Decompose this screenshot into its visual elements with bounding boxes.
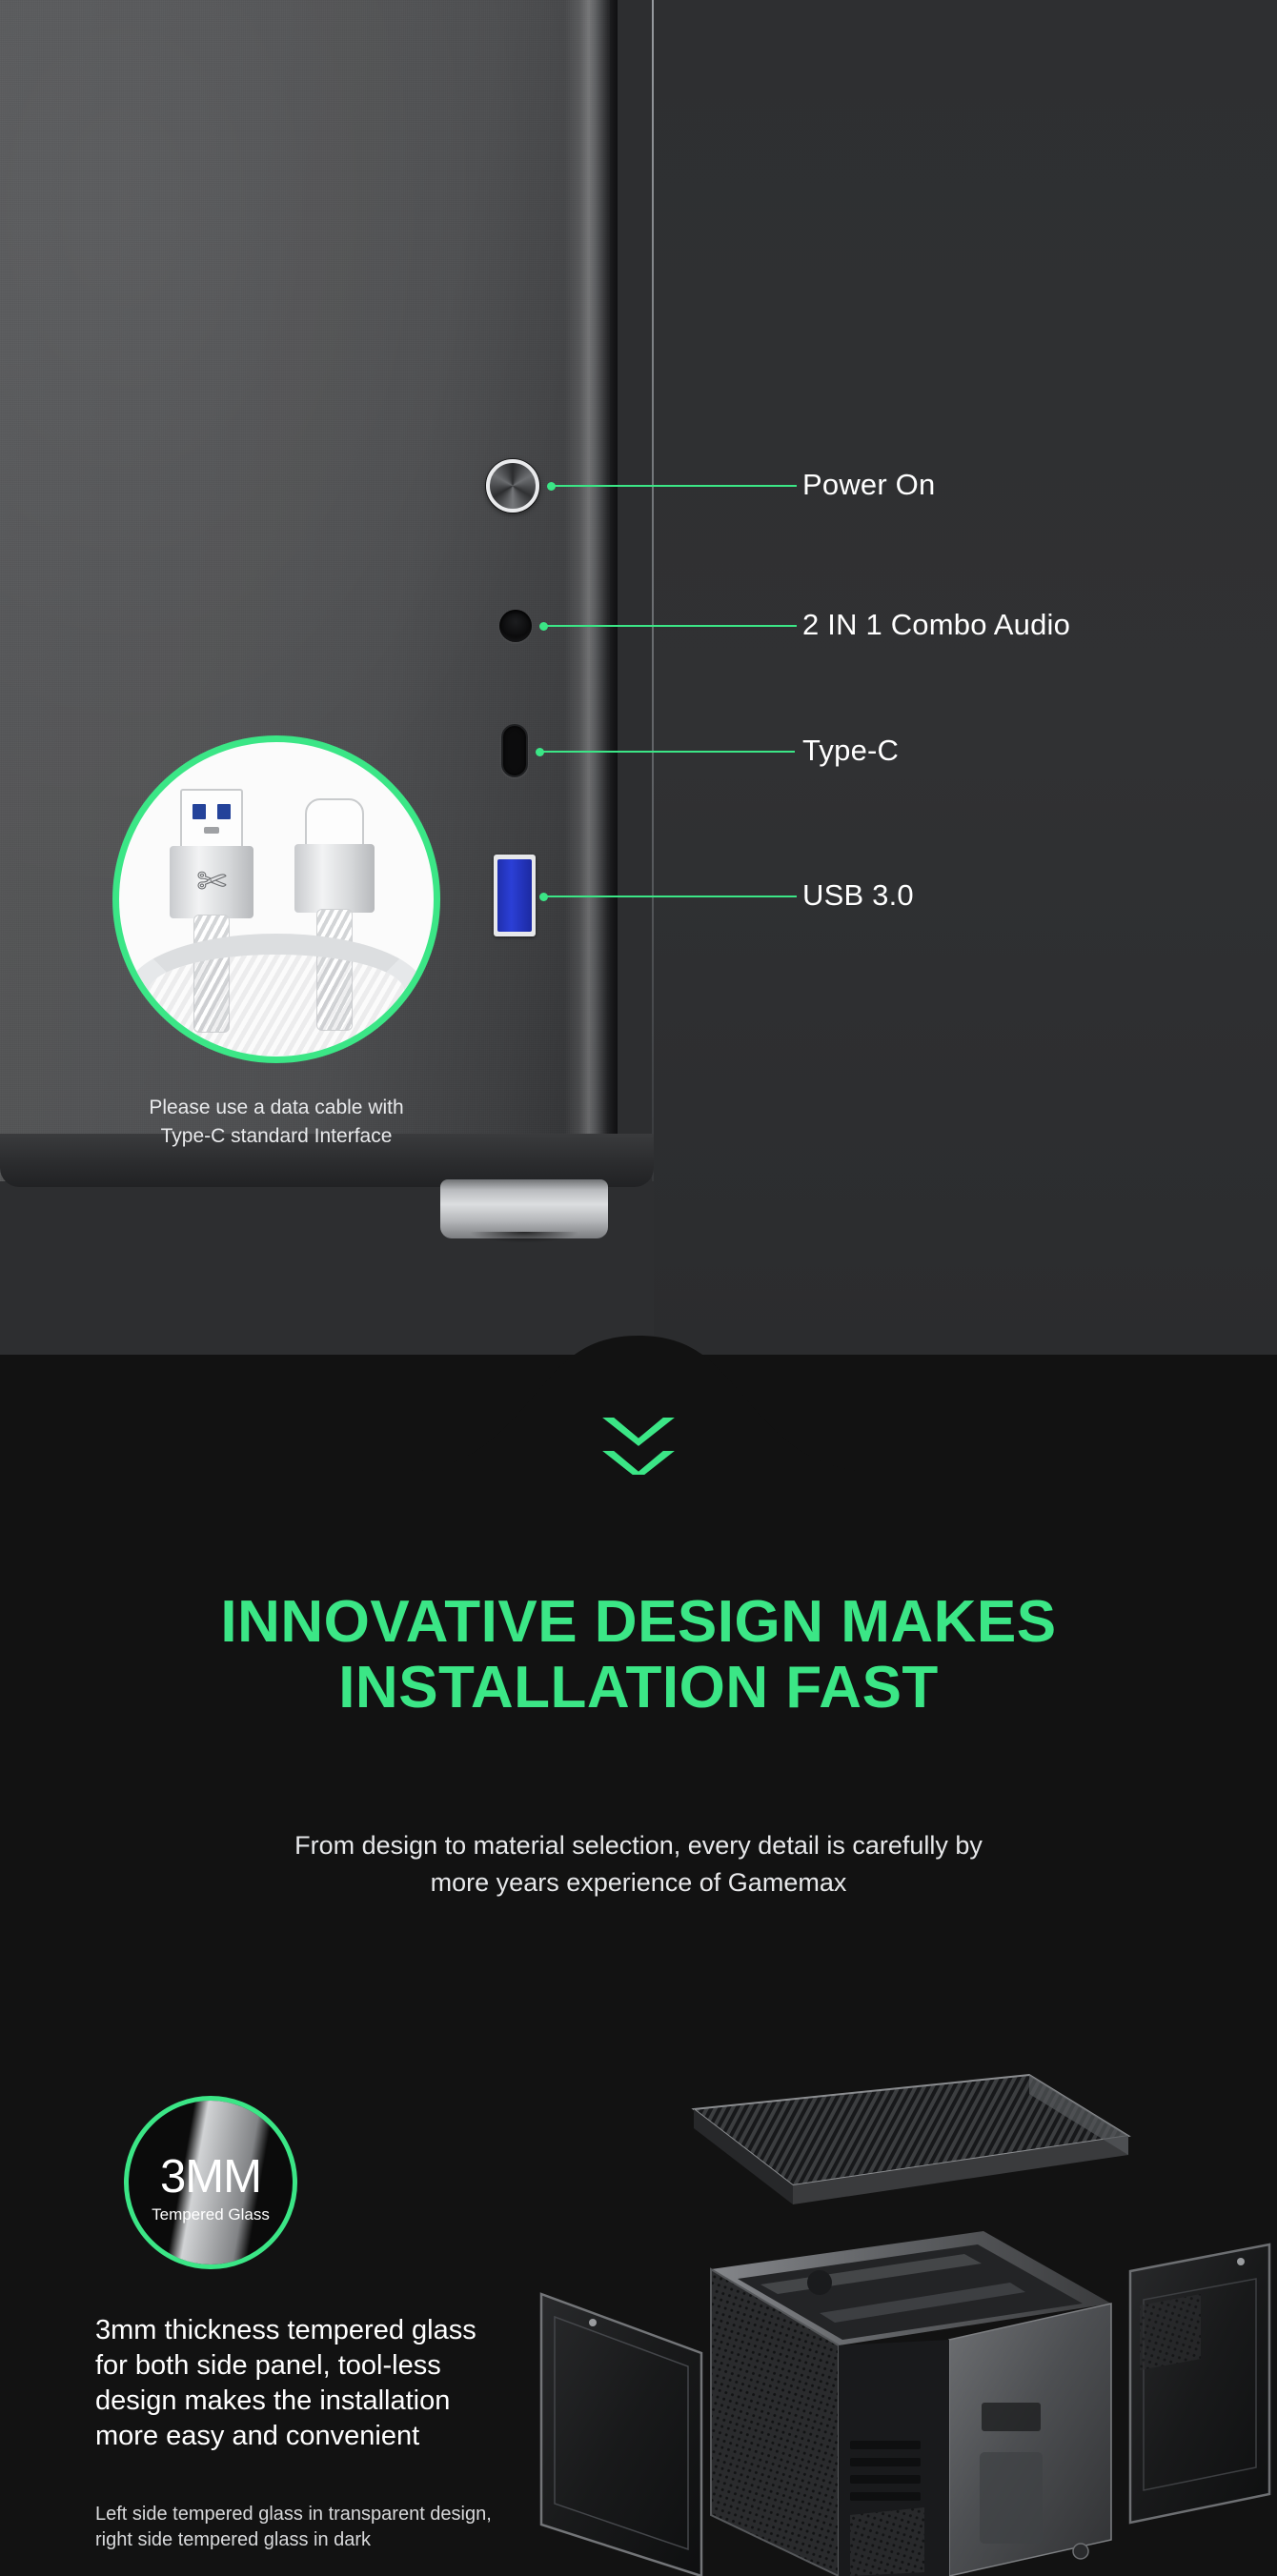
usb-a-pin-right <box>217 804 231 819</box>
label-usb-3: USB 3.0 <box>802 878 914 913</box>
usb-trident-icon: ✄ <box>196 864 227 900</box>
usb-c-tip <box>305 798 364 848</box>
case-left-glass-panel <box>541 2294 701 2576</box>
exploded-case-illustration <box>534 2067 1277 2576</box>
usb-tongue <box>497 859 532 932</box>
glass-badge-text: 3MM Tempered Glass <box>129 2154 293 2224</box>
headline-line-1: INNOVATIVE DESIGN MAKES <box>0 1589 1277 1655</box>
cable-caption-line-2: Type-C standard Interface <box>88 1122 465 1151</box>
feature-body-text: 3mm thickness tempered glass for both si… <box>95 2313 515 2454</box>
leader-line-audio <box>543 625 797 627</box>
audio-jack-icon <box>499 610 532 642</box>
usb-a-body: ✄ <box>170 846 253 918</box>
page-title: INNOVATIVE DESIGN MAKES INSTALLATION FAS… <box>0 1589 1277 1721</box>
tempered-glass-badge: 3MM Tempered Glass <box>124 2096 297 2269</box>
label-power-on: Power On <box>802 468 935 502</box>
cable-loop <box>128 934 425 1063</box>
cable-caption: Please use a data cable with Type-C stan… <box>88 1094 465 1151</box>
usb-c-body <box>294 844 375 913</box>
leader-line-usb-3 <box>543 896 797 897</box>
leader-line-power-on <box>551 485 797 487</box>
feature-note-text: Left side tempered glass in transparent … <box>95 2502 515 2553</box>
power-button-icon <box>486 459 539 513</box>
case-foot <box>440 1179 608 1238</box>
usb-a-tip <box>180 789 243 848</box>
usb-a-pin-left <box>193 804 206 819</box>
subhead-line-2: more years experience of Gamemax <box>431 1868 847 1897</box>
page-subtitle: From design to material selection, every… <box>162 1827 1115 1902</box>
chevron-down-icon-1 <box>602 1418 675 1446</box>
cable-callout-circle: ✄ <box>112 735 440 1063</box>
glass-thickness-value: 3MM <box>129 2154 293 2201</box>
usb-a-slot <box>204 827 219 834</box>
leader-line-type-c <box>539 751 795 753</box>
case-top-panel <box>694 2075 1128 2204</box>
glass-thickness-caption: Tempered Glass <box>129 2205 293 2224</box>
feature-section: INNOVATIVE DESIGN MAKES INSTALLATION FAS… <box>0 1475 1277 2576</box>
case-right-glass-panel <box>1130 2244 1269 2523</box>
usb-3-port-icon <box>494 855 536 936</box>
label-combo-audio: 2 IN 1 Combo Audio <box>802 608 1070 642</box>
usb-cable-illustration: ✄ <box>133 756 419 1042</box>
cable-caption-line-1: Please use a data cable with <box>88 1094 465 1122</box>
type-c-port-icon <box>501 724 528 777</box>
case-chassis <box>711 2231 1111 2576</box>
subhead-line-1: From design to material selection, every… <box>294 1831 983 1860</box>
label-type-c: Type-C <box>802 734 899 768</box>
case-edge-highlight <box>564 0 618 1181</box>
double-chevron-down-icon <box>0 1418 1277 1479</box>
io-panel-section: Power On 2 IN 1 Combo Audio Type-C USB 3… <box>0 0 1277 1355</box>
product-page: Power On 2 IN 1 Combo Audio Type-C USB 3… <box>0 0 1277 2576</box>
photo-backdrop <box>654 0 1277 1355</box>
headline-line-2: INSTALLATION FAST <box>0 1655 1277 1721</box>
